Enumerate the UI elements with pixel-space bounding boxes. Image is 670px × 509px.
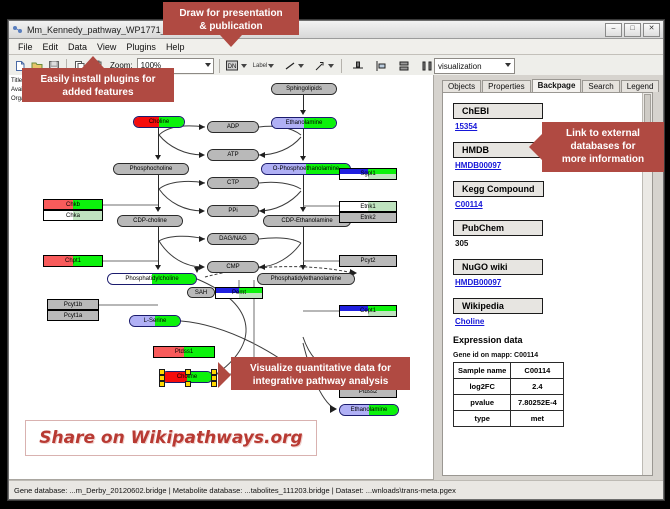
gene-label: Chka — [66, 213, 80, 219]
expr-value-type: met — [511, 411, 564, 427]
metabolite-ethanolamine-bottom[interactable]: Ethanolamine — [339, 404, 399, 416]
metabolite-label: Choline — [149, 119, 169, 125]
metabolite-label: CMP — [226, 264, 239, 270]
gene-label: Pemt — [232, 290, 246, 296]
tab-legend[interactable]: Legend — [621, 80, 660, 92]
expr-key-log2fc: log2FC — [454, 379, 511, 395]
expr-key-type: type — [454, 411, 511, 427]
metabolite-label: DAG/NAG — [219, 236, 247, 242]
line-icon[interactable] — [282, 58, 297, 73]
gene-pcyt1a[interactable]: Pcyt1a — [47, 310, 99, 321]
callout-link-external-db: Link to external databases for more info… — [542, 122, 664, 172]
datanode-icon[interactable]: DN — [225, 58, 240, 73]
gene-etnk1[interactable]: Etnk1 — [339, 201, 397, 212]
expr-value-sample-name: C00114 — [511, 363, 564, 379]
label-tool-text: Label — [253, 63, 268, 69]
metabolite-label: O-Phosphoethanolamine — [273, 166, 339, 172]
app-icon — [12, 24, 23, 35]
selection-handle[interactable] — [185, 369, 191, 375]
label-tool[interactable]: Label — [253, 63, 275, 69]
window-buttons: – □ ✕ — [605, 23, 660, 37]
metabolite-ctp[interactable]: CTP — [207, 177, 259, 189]
chevron-down-icon[interactable] — [328, 64, 334, 68]
menu-item-plugins[interactable]: Plugins — [121, 41, 161, 53]
db-header-nugo-wiki: NuGO wiki — [453, 259, 543, 275]
metabolite-label: Ethanolamine — [351, 407, 388, 413]
side-panel-tabs: Objects Properties Backpage Search Legen… — [434, 77, 663, 92]
callout-plugins-line2: added features — [30, 86, 166, 99]
metabolite-cdp-ethanolamine[interactable]: CDP-Ethanolamine — [263, 215, 351, 227]
menu-item-data[interactable]: Data — [63, 41, 92, 53]
callout-visualize-pointer — [218, 362, 231, 388]
metabolite-choline-top[interactable]: Choline — [133, 116, 185, 128]
db-header-pubchem: PubChem — [453, 220, 543, 236]
metabolite-sam[interactable]: SAH — [187, 287, 215, 298]
close-button[interactable]: ✕ — [643, 23, 660, 37]
menu-item-help[interactable]: Help — [161, 41, 190, 53]
menu-item-edit[interactable]: Edit — [38, 41, 64, 53]
metabolite-label: L-Serine — [144, 318, 167, 324]
callout-draw-pointer — [220, 35, 242, 47]
title-bar: Mm_Kennedy_pathway_WP1771_45176.gpml – □… — [9, 21, 663, 39]
metabolite-label: ADP — [227, 124, 239, 130]
callout-visualize-line2: integrative pathway analysis — [239, 375, 402, 388]
callout-draw: Draw for presentation & publication — [163, 2, 299, 35]
expression-table: Sample name C00114 log2FC 2.4 pvalue 7.8… — [453, 362, 564, 427]
callout-link-line3: more information — [550, 153, 656, 166]
tab-properties[interactable]: Properties — [482, 80, 530, 92]
selection-handle[interactable] — [159, 381, 165, 387]
table-row: type met — [454, 411, 564, 427]
gene-chkb[interactable]: Chkb — [43, 199, 103, 210]
chevron-down-icon[interactable] — [241, 64, 247, 68]
expr-value-pvalue: 7.80252E-4 — [511, 395, 564, 411]
metabolite-label: PPi — [228, 208, 237, 214]
receptor-icon[interactable] — [312, 58, 327, 73]
gene-pcyt2[interactable]: Pcyt2 — [339, 255, 397, 267]
gene-label: Ptdss1 — [175, 349, 193, 355]
callout-plugins-pointer — [82, 56, 104, 68]
status-bar: Gene database: ...m_Derby_20120602.bridg… — [9, 480, 663, 499]
menu-item-view[interactable]: View — [92, 41, 121, 53]
minimize-button[interactable]: – — [605, 23, 622, 37]
metabolite-ethanolamine-top[interactable]: Ethanolamine — [271, 117, 337, 129]
chevron-down-icon — [505, 63, 511, 67]
tab-backpage[interactable]: Backpage — [532, 79, 582, 92]
callout-draw-line1: Draw for presentation — [171, 7, 291, 20]
gene-etnk2[interactable]: Etnk2 — [339, 212, 397, 223]
screen: Mm_Kennedy_pathway_WP1771_45176.gpml – □… — [0, 0, 670, 509]
visualization-value: visualization — [438, 62, 482, 71]
metabolite-label: Phosphatidylethanolamine — [271, 276, 341, 282]
gene-label: Pcyt1a — [64, 313, 82, 319]
db-header-kegg-compound: Kegg Compound — [453, 181, 544, 197]
chevron-down-icon — [205, 63, 211, 67]
datanode-tool[interactable]: DN — [225, 58, 247, 73]
menu-item-file[interactable]: File — [13, 41, 38, 53]
metabolite-label: Sphingolipids — [286, 86, 322, 92]
metabolite-cmp[interactable]: CMP — [207, 261, 259, 273]
db-header-wikipedia: Wikipedia — [453, 298, 543, 314]
metabolite-label: SAH — [195, 290, 207, 296]
share-banner: Share on Wikipathways.org — [25, 420, 317, 456]
callout-visualize-line1: Visualize quantitative data for — [239, 362, 402, 375]
metabolite-ppi[interactable]: PPi — [207, 205, 259, 217]
callout-link-line1: Link to external — [550, 127, 656, 140]
expr-value-log2fc: 2.4 — [511, 379, 564, 395]
callout-link-line2: databases for — [550, 140, 656, 153]
gene-label: Sgpl1 — [360, 171, 375, 177]
align-left-icon[interactable] — [373, 58, 388, 73]
metabolite-label: Ethanolamine — [286, 120, 323, 126]
align-top-icon[interactable] — [350, 58, 365, 73]
callout-draw-line2: & publication — [171, 20, 291, 33]
chevron-down-icon[interactable] — [298, 64, 304, 68]
expr-key-sample-name: Sample name — [454, 363, 511, 379]
table-row: log2FC 2.4 — [454, 379, 564, 395]
toolbar-separator-2 — [219, 59, 220, 73]
gene-cept1[interactable]: Cept1 — [339, 305, 397, 317]
gene-id-on-mapp: Gene id on mapp: C00114 — [453, 352, 644, 359]
callout-link-pointer — [529, 134, 542, 160]
metabolite-label: CDP-choline — [133, 218, 167, 224]
db-value-pubchem: 305 — [455, 239, 644, 248]
gene-label: Etnk2 — [360, 215, 375, 221]
chevron-down-icon[interactable] — [268, 64, 274, 68]
receptor-tool[interactable] — [312, 58, 334, 73]
stack-icon[interactable] — [396, 58, 411, 73]
gene-ptdss1[interactable]: Ptdss1 — [153, 346, 215, 358]
toolbar-separator-3 — [341, 59, 342, 73]
table-row: Sample name C00114 — [454, 363, 564, 379]
gene-label: Etnk1 — [360, 204, 375, 210]
callout-plugins: Easily install plugins for added feature… — [22, 68, 174, 102]
callout-visualize: Visualize quantitative data for integrat… — [231, 357, 410, 390]
gene-pcyt1b[interactable]: Pcyt1b — [47, 299, 99, 310]
metabolite-label: Phosphatidylcholine — [125, 276, 178, 282]
tab-search[interactable]: Search — [582, 80, 619, 92]
selection-handle[interactable] — [211, 381, 217, 387]
status-bar-text: Gene database: ...m_Derby_20120602.bridg… — [14, 486, 456, 495]
gene-label: Pcyt2 — [360, 258, 375, 264]
db-header-chebi: ChEBI — [453, 103, 543, 119]
db-link-wikipedia[interactable]: Choline — [455, 317, 644, 326]
callout-plugins-line1: Easily install plugins for — [30, 73, 166, 86]
gene-label: Cept1 — [360, 308, 376, 314]
tab-objects[interactable]: Objects — [442, 80, 481, 92]
metabolite-phosphocholine[interactable]: Phosphocholine — [113, 163, 189, 175]
distribute-icon[interactable] — [419, 58, 434, 73]
metabolite-label: CDP-Ethanolamine — [281, 218, 332, 224]
metabolite-label: Phosphocholine — [130, 166, 173, 172]
expr-key-pvalue: pvalue — [454, 395, 511, 411]
metabolite-o-phosphoethanolamine[interactable]: O-Phosphoethanolamine — [261, 163, 351, 175]
menu-bar: File Edit Data View Plugins Help — [9, 39, 663, 55]
share-banner-text: Share on Wikipathways.org — [39, 428, 302, 448]
selection-handle[interactable] — [185, 381, 191, 387]
maximize-button[interactable]: □ — [624, 23, 641, 37]
gene-chka[interactable]: Chka — [43, 210, 103, 221]
line-tool[interactable] — [282, 58, 304, 73]
metabolite-dag-nag[interactable]: DAG/NAG — [207, 233, 259, 245]
gene-label: Pcyt1b — [64, 302, 82, 308]
gene-chpt1[interactable]: Chpt1 — [43, 255, 103, 267]
svg-text:DN: DN — [228, 64, 237, 70]
table-row: pvalue 7.80252E-4 — [454, 395, 564, 411]
gene-pemt[interactable]: Pemt — [215, 287, 263, 299]
metabolite-l-serine-left[interactable]: L-Serine — [129, 315, 181, 327]
db-link-kegg-compound[interactable]: C00114 — [455, 200, 644, 209]
metabolite-adp[interactable]: ADP — [207, 121, 259, 133]
metabolite-atp[interactable]: ATP — [207, 149, 259, 161]
metabolite-sphingolipids[interactable]: Sphingolipids — [271, 83, 337, 95]
metabolite-label: ATP — [227, 152, 238, 158]
gene-sgpl1[interactable]: Sgpl1 — [339, 168, 397, 180]
expression-data-heading: Expression data — [453, 335, 644, 345]
metabolite-phosphatidylcholine[interactable]: Phosphatidylcholine — [107, 273, 197, 285]
db-link-nugo-wiki[interactable]: HMDB00097 — [455, 278, 644, 287]
metabolite-label: CTP — [227, 180, 239, 186]
gene-label: Chpt1 — [65, 258, 81, 264]
metabolite-cdp-choline[interactable]: CDP-choline — [117, 215, 183, 227]
metabolite-phosphatidylethanolamine[interactable]: Phosphatidylethanolamine — [257, 273, 355, 285]
gene-label: Chkb — [66, 202, 80, 208]
visualization-combo[interactable]: visualization — [434, 58, 515, 74]
